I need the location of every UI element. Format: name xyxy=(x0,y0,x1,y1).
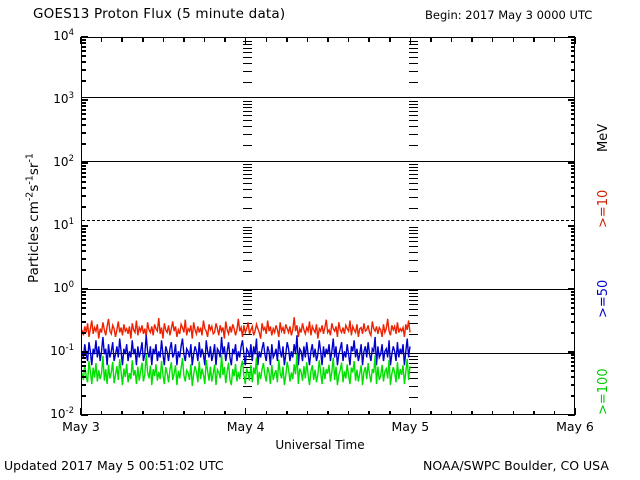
y-minor-tick xyxy=(81,118,86,120)
y-major-tick xyxy=(81,351,88,353)
y-minor-tick xyxy=(81,302,86,304)
footer-source-text: NOAA/SWPC Boulder, CO USA xyxy=(423,458,609,473)
right-label-ge100: >=100 xyxy=(596,368,611,415)
x-tick xyxy=(492,411,494,416)
y-minor-tick xyxy=(81,165,86,167)
y-minor-tick-right xyxy=(571,357,576,359)
y-minor-tick-right xyxy=(571,109,576,111)
x-tick-top xyxy=(245,37,247,44)
x-tick-top xyxy=(80,37,82,44)
y-minor-tick xyxy=(81,231,86,233)
x-tick xyxy=(327,411,329,416)
x-tick-top xyxy=(492,37,494,42)
x-tick xyxy=(286,411,288,416)
x-tick-top xyxy=(224,37,226,42)
y-minor-tick-right xyxy=(571,143,576,145)
y-minor-tick-right xyxy=(571,80,576,82)
x-tick-top xyxy=(142,37,144,42)
x-tick xyxy=(80,408,82,415)
y-minor-tick xyxy=(81,172,86,174)
y-minor-tick-right xyxy=(571,321,576,323)
y-minor-tick xyxy=(81,294,86,296)
x-tick-top xyxy=(183,37,185,42)
x-tick-top xyxy=(451,37,453,42)
y-minor-tick xyxy=(81,80,86,82)
x-tick xyxy=(554,411,556,416)
x-tick-top xyxy=(430,37,432,42)
y-minor-tick-right xyxy=(571,228,576,230)
y-minor-tick xyxy=(81,307,86,309)
y-tick-label: 100 xyxy=(38,281,74,295)
x-tick xyxy=(368,411,370,416)
y-major-tick-right xyxy=(568,288,575,290)
y-major-tick xyxy=(81,36,88,38)
x-tick-top xyxy=(327,37,329,42)
x-tick-top xyxy=(307,37,309,42)
y-minor-tick-right xyxy=(571,181,576,183)
x-tick xyxy=(451,411,453,416)
y-minor-tick-right xyxy=(571,187,576,189)
x-tick xyxy=(307,411,309,416)
y-tick-label: 10-1 xyxy=(38,344,74,358)
x-tick-top xyxy=(513,37,515,42)
x-tick-top xyxy=(533,37,535,42)
y-minor-tick xyxy=(81,313,86,315)
y-minor-tick xyxy=(81,239,86,241)
y-minor-tick xyxy=(81,195,86,197)
x-tick-top xyxy=(121,37,123,42)
right-label-ge10: >=10 xyxy=(596,190,611,228)
y-minor-tick-right xyxy=(571,269,576,271)
y-minor-tick-right xyxy=(571,250,576,252)
x-tick xyxy=(245,408,247,415)
x-tick-top xyxy=(389,37,391,42)
y-minor-tick-right xyxy=(571,361,576,363)
plot-area xyxy=(81,37,575,415)
y-minor-tick-right xyxy=(571,302,576,304)
y-minor-tick xyxy=(81,69,86,71)
y-minor-tick-right xyxy=(571,376,576,378)
y-axis-exp-2: -1 xyxy=(25,175,36,184)
x-tick xyxy=(142,411,144,416)
x-tick-top xyxy=(348,37,350,42)
x-tick xyxy=(471,411,473,416)
y-minor-tick xyxy=(81,354,86,356)
x-tick xyxy=(389,411,391,416)
x-tick-label: May 3 xyxy=(62,419,100,434)
y-minor-tick xyxy=(81,244,86,246)
y-minor-tick-right xyxy=(571,206,576,208)
y-minor-tick-right xyxy=(571,291,576,293)
y-minor-tick xyxy=(81,206,86,208)
x-tick xyxy=(410,408,412,415)
x-tick-top xyxy=(286,37,288,42)
y-minor-tick-right xyxy=(571,332,576,334)
y-minor-tick xyxy=(81,105,86,107)
y-minor-tick-right xyxy=(571,46,576,48)
y-major-tick xyxy=(81,288,88,290)
y-minor-tick xyxy=(81,176,86,178)
y-minor-tick xyxy=(81,384,86,386)
y-minor-tick xyxy=(81,258,86,260)
y-minor-tick-right xyxy=(571,55,576,57)
y-minor-tick xyxy=(81,370,86,372)
y-minor-tick xyxy=(81,395,86,397)
x-tick-top xyxy=(410,37,412,44)
x-tick xyxy=(513,411,515,416)
y-minor-tick-right xyxy=(571,365,576,367)
right-label-ge50: >=50 xyxy=(596,280,611,318)
y-minor-tick xyxy=(81,357,86,359)
y-minor-tick xyxy=(81,228,86,230)
y-minor-tick-right xyxy=(571,395,576,397)
y-minor-tick-right xyxy=(571,307,576,309)
x-tick-top xyxy=(368,37,370,42)
y-minor-tick-right xyxy=(571,105,576,107)
y-minor-tick xyxy=(81,124,86,126)
y-minor-tick-right xyxy=(571,239,576,241)
y-major-tick xyxy=(81,162,88,164)
y-minor-tick-right xyxy=(571,102,576,104)
y-minor-tick-right xyxy=(571,176,576,178)
y-minor-tick-right xyxy=(571,384,576,386)
y-minor-tick-right xyxy=(571,172,576,174)
x-axis-title: Universal Time xyxy=(0,438,640,452)
y-minor-tick-right xyxy=(571,132,576,134)
y-minor-tick-right xyxy=(571,118,576,120)
y-minor-tick xyxy=(81,46,86,48)
y-minor-tick xyxy=(81,376,86,378)
series-line-ge50 xyxy=(82,335,410,365)
y-minor-tick xyxy=(81,132,86,134)
y-minor-tick-right xyxy=(571,50,576,52)
y-minor-tick-right xyxy=(571,370,576,372)
y-minor-tick xyxy=(81,109,86,111)
y-major-tick-right xyxy=(568,99,575,101)
y-minor-tick xyxy=(81,269,86,271)
x-tick-top xyxy=(101,37,103,42)
y-minor-tick-right xyxy=(571,231,576,233)
y-minor-tick xyxy=(81,365,86,367)
y-minor-tick-right xyxy=(571,235,576,237)
x-tick-top xyxy=(204,37,206,42)
y-minor-tick xyxy=(81,298,86,300)
y-tick-label: 102 xyxy=(38,155,74,169)
x-tick xyxy=(348,411,350,416)
x-tick xyxy=(266,411,268,416)
y-minor-tick xyxy=(81,55,86,57)
y-minor-tick xyxy=(81,250,86,252)
y-minor-tick xyxy=(81,50,86,52)
y-minor-tick xyxy=(81,235,86,237)
x-tick xyxy=(204,411,206,416)
x-tick xyxy=(224,411,226,416)
right-label-mev: MeV xyxy=(596,124,611,152)
series-line-ge10 xyxy=(82,317,410,338)
x-tick xyxy=(121,411,123,416)
y-minor-tick-right xyxy=(571,298,576,300)
y-minor-tick xyxy=(81,361,86,363)
x-tick-label: May 5 xyxy=(391,419,429,434)
x-tick xyxy=(430,411,432,416)
y-minor-tick-right xyxy=(571,195,576,197)
y-minor-tick xyxy=(81,168,86,170)
x-tick-top xyxy=(163,37,165,42)
x-tick xyxy=(163,411,165,416)
y-minor-tick xyxy=(81,187,86,189)
y-tick-label: 104 xyxy=(38,29,74,43)
y-minor-tick-right xyxy=(571,294,576,296)
y-tick-label: 101 xyxy=(38,218,74,232)
y-minor-tick-right xyxy=(571,165,576,167)
x-tick-top xyxy=(471,37,473,42)
y-minor-tick xyxy=(81,321,86,323)
x-tick-top xyxy=(574,37,576,44)
x-tick-label: May 4 xyxy=(227,419,265,434)
series-plot xyxy=(82,38,574,414)
y-minor-tick-right xyxy=(571,168,576,170)
x-tick xyxy=(533,411,535,416)
x-tick-top xyxy=(266,37,268,42)
y-minor-tick xyxy=(81,332,86,334)
footer-updated-text: Updated 2017 May 5 00:51:02 UTC xyxy=(4,458,224,473)
y-minor-tick-right xyxy=(571,69,576,71)
y-tick-label: 103 xyxy=(38,92,74,106)
y-axis-title-mid-1: s xyxy=(26,185,42,192)
x-tick xyxy=(574,408,576,415)
y-minor-tick-right xyxy=(571,113,576,115)
y-minor-tick xyxy=(81,291,86,293)
y-minor-tick xyxy=(81,102,86,104)
y-minor-tick xyxy=(81,181,86,183)
y-minor-tick-right xyxy=(571,244,576,246)
y-axis-exp-3: -1 xyxy=(25,153,36,162)
y-minor-tick-right xyxy=(571,313,576,315)
y-minor-tick xyxy=(81,113,86,115)
y-minor-tick xyxy=(81,61,86,63)
x-tick-top xyxy=(554,37,556,42)
x-tick-label: May 6 xyxy=(556,419,594,434)
y-axis-exp-1: -2 xyxy=(25,192,36,201)
y-minor-tick-right xyxy=(571,61,576,63)
y-major-tick xyxy=(81,99,88,101)
x-tick xyxy=(101,411,103,416)
y-major-tick-right xyxy=(568,225,575,227)
page-title: GOES13 Proton Flux (5 minute data) xyxy=(33,6,285,22)
y-major-tick-right xyxy=(568,351,575,353)
y-major-tick xyxy=(81,225,88,227)
y-minor-tick-right xyxy=(571,124,576,126)
y-minor-tick xyxy=(81,143,86,145)
y-major-tick-right xyxy=(568,162,575,164)
x-tick xyxy=(183,411,185,416)
begin-time-label: Begin: 2017 May 3 0000 UTC xyxy=(425,8,592,22)
y-major-tick xyxy=(81,414,88,416)
y-axis-title-main: Particles cm xyxy=(26,201,42,283)
y-minor-tick-right xyxy=(571,258,576,260)
y-minor-tick-right xyxy=(571,354,576,356)
